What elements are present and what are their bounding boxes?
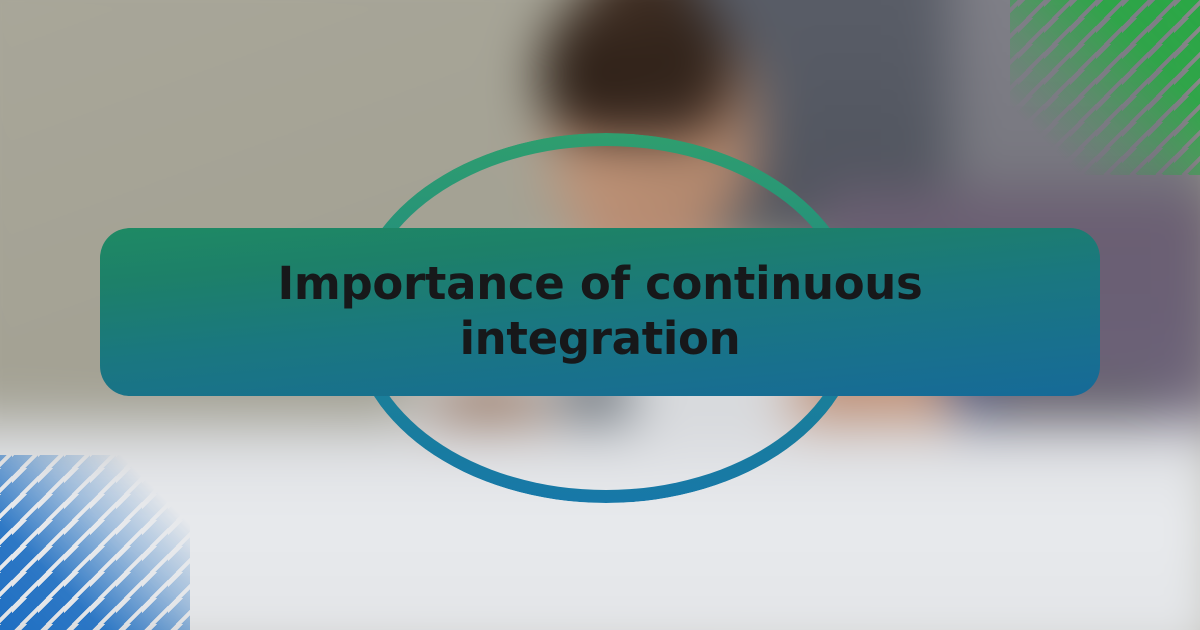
green-dash-pattern-fill bbox=[1010, 0, 1200, 175]
title-banner: Importance of continuous integration bbox=[100, 228, 1100, 396]
blue-dash-pattern-fill bbox=[0, 455, 190, 630]
green-dash-pattern-icon bbox=[1010, 0, 1200, 175]
poster-canvas: Importance of continuous integration bbox=[0, 0, 1200, 630]
blue-dash-pattern-icon bbox=[0, 455, 190, 630]
page-title: Importance of continuous integration bbox=[250, 257, 950, 367]
